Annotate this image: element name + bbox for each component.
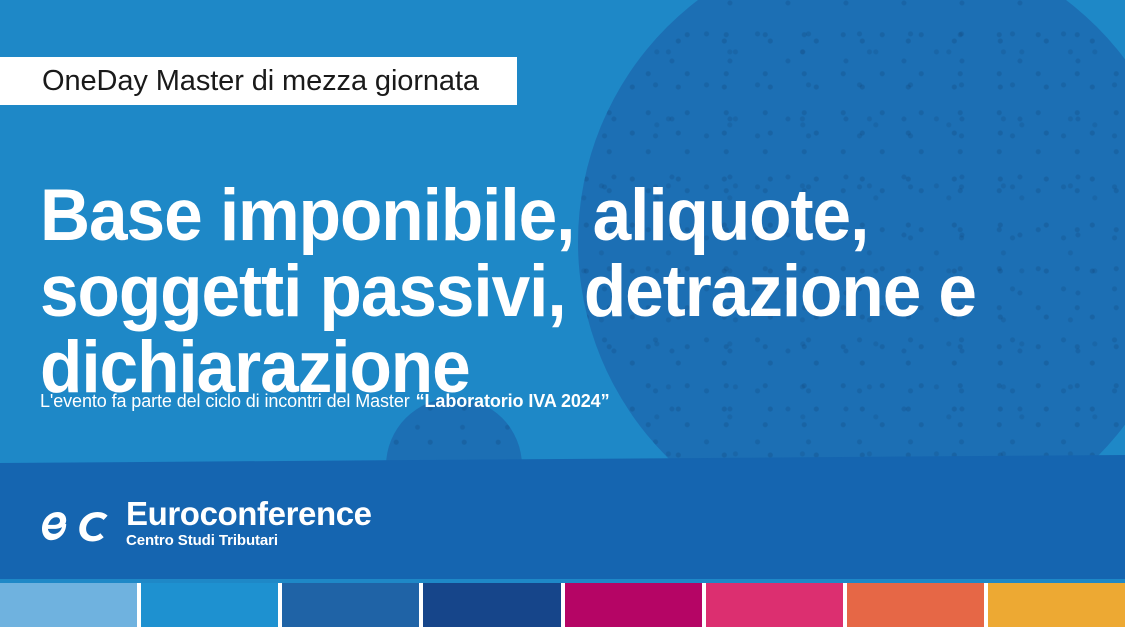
logo-title: Euroconference: [126, 497, 372, 531]
swatch-azure-blue: [141, 583, 278, 627]
promo-banner: OneDay Master di mezza giornata Base imp…: [0, 0, 1125, 627]
swatch-steel-blue: [282, 583, 419, 627]
logo-tagline: Centro Studi Tributari: [126, 532, 372, 550]
logo-wordmark: Euroconference Centro Studi Tributari: [126, 497, 372, 550]
subtitle: L'evento fa parte del ciclo di incontri …: [40, 390, 610, 412]
headline-line-2: soggetti passivi, detrazione e: [40, 254, 1028, 330]
subtitle-prefix: L'evento fa parte del ciclo di incontri …: [40, 391, 410, 411]
swatch-magenta: [565, 583, 702, 627]
subtitle-course-name: “Laboratorio IVA 2024”: [416, 391, 610, 411]
swatch-amber: [988, 583, 1125, 627]
eyebrow-label: OneDay Master di mezza giornata: [42, 67, 479, 96]
swatch-sky-blue: [0, 583, 137, 627]
swatch-navy-blue: [423, 583, 560, 627]
eyebrow-badge: OneDay Master di mezza giornata: [0, 57, 517, 105]
headline-line-1: Base imponibile, aliquote,: [40, 178, 1028, 254]
color-swatch-strip: [0, 583, 1125, 627]
swatch-coral: [847, 583, 984, 627]
brand-logo: Euroconference Centro Studi Tributari: [42, 497, 372, 550]
page-title: Base imponibile, aliquote, soggetti pass…: [40, 178, 1028, 406]
ec-monogram-icon: [42, 500, 112, 548]
swatch-pink: [706, 583, 843, 627]
